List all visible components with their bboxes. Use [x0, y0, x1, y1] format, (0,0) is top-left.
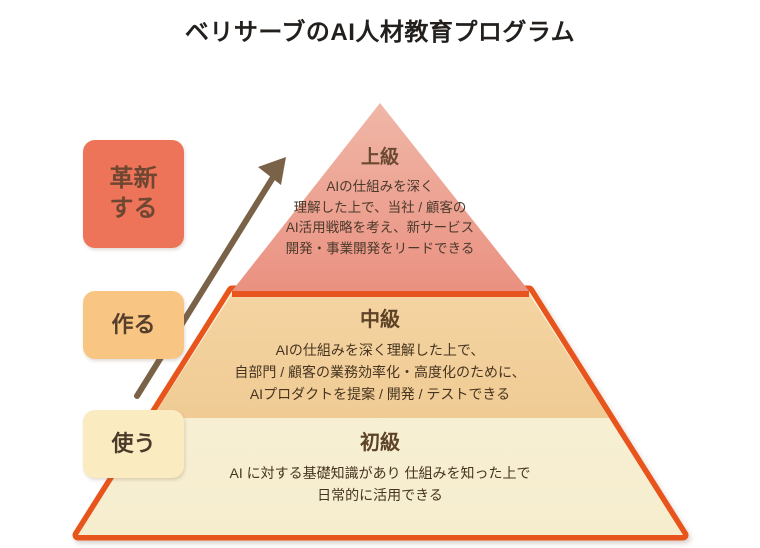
stage-badge-build-label: 作る	[111, 311, 155, 339]
stage-badge-innovate-line-2: する	[110, 194, 158, 224]
pyramid-tier-advanced	[232, 103, 529, 291]
diagram-canvas: ベリサーブのAI人材教育プログラム	[0, 0, 760, 548]
stage-badge-build: 作る	[83, 291, 184, 359]
stage-badge-innovate-line-1: 革新	[110, 164, 158, 194]
stage-badge-use: 使う	[83, 410, 184, 478]
stage-badge-use-label: 使う	[111, 430, 155, 458]
pyramid-tier-intermediate	[152, 294, 609, 418]
stage-badge-innovate: 革新 する	[83, 140, 184, 248]
